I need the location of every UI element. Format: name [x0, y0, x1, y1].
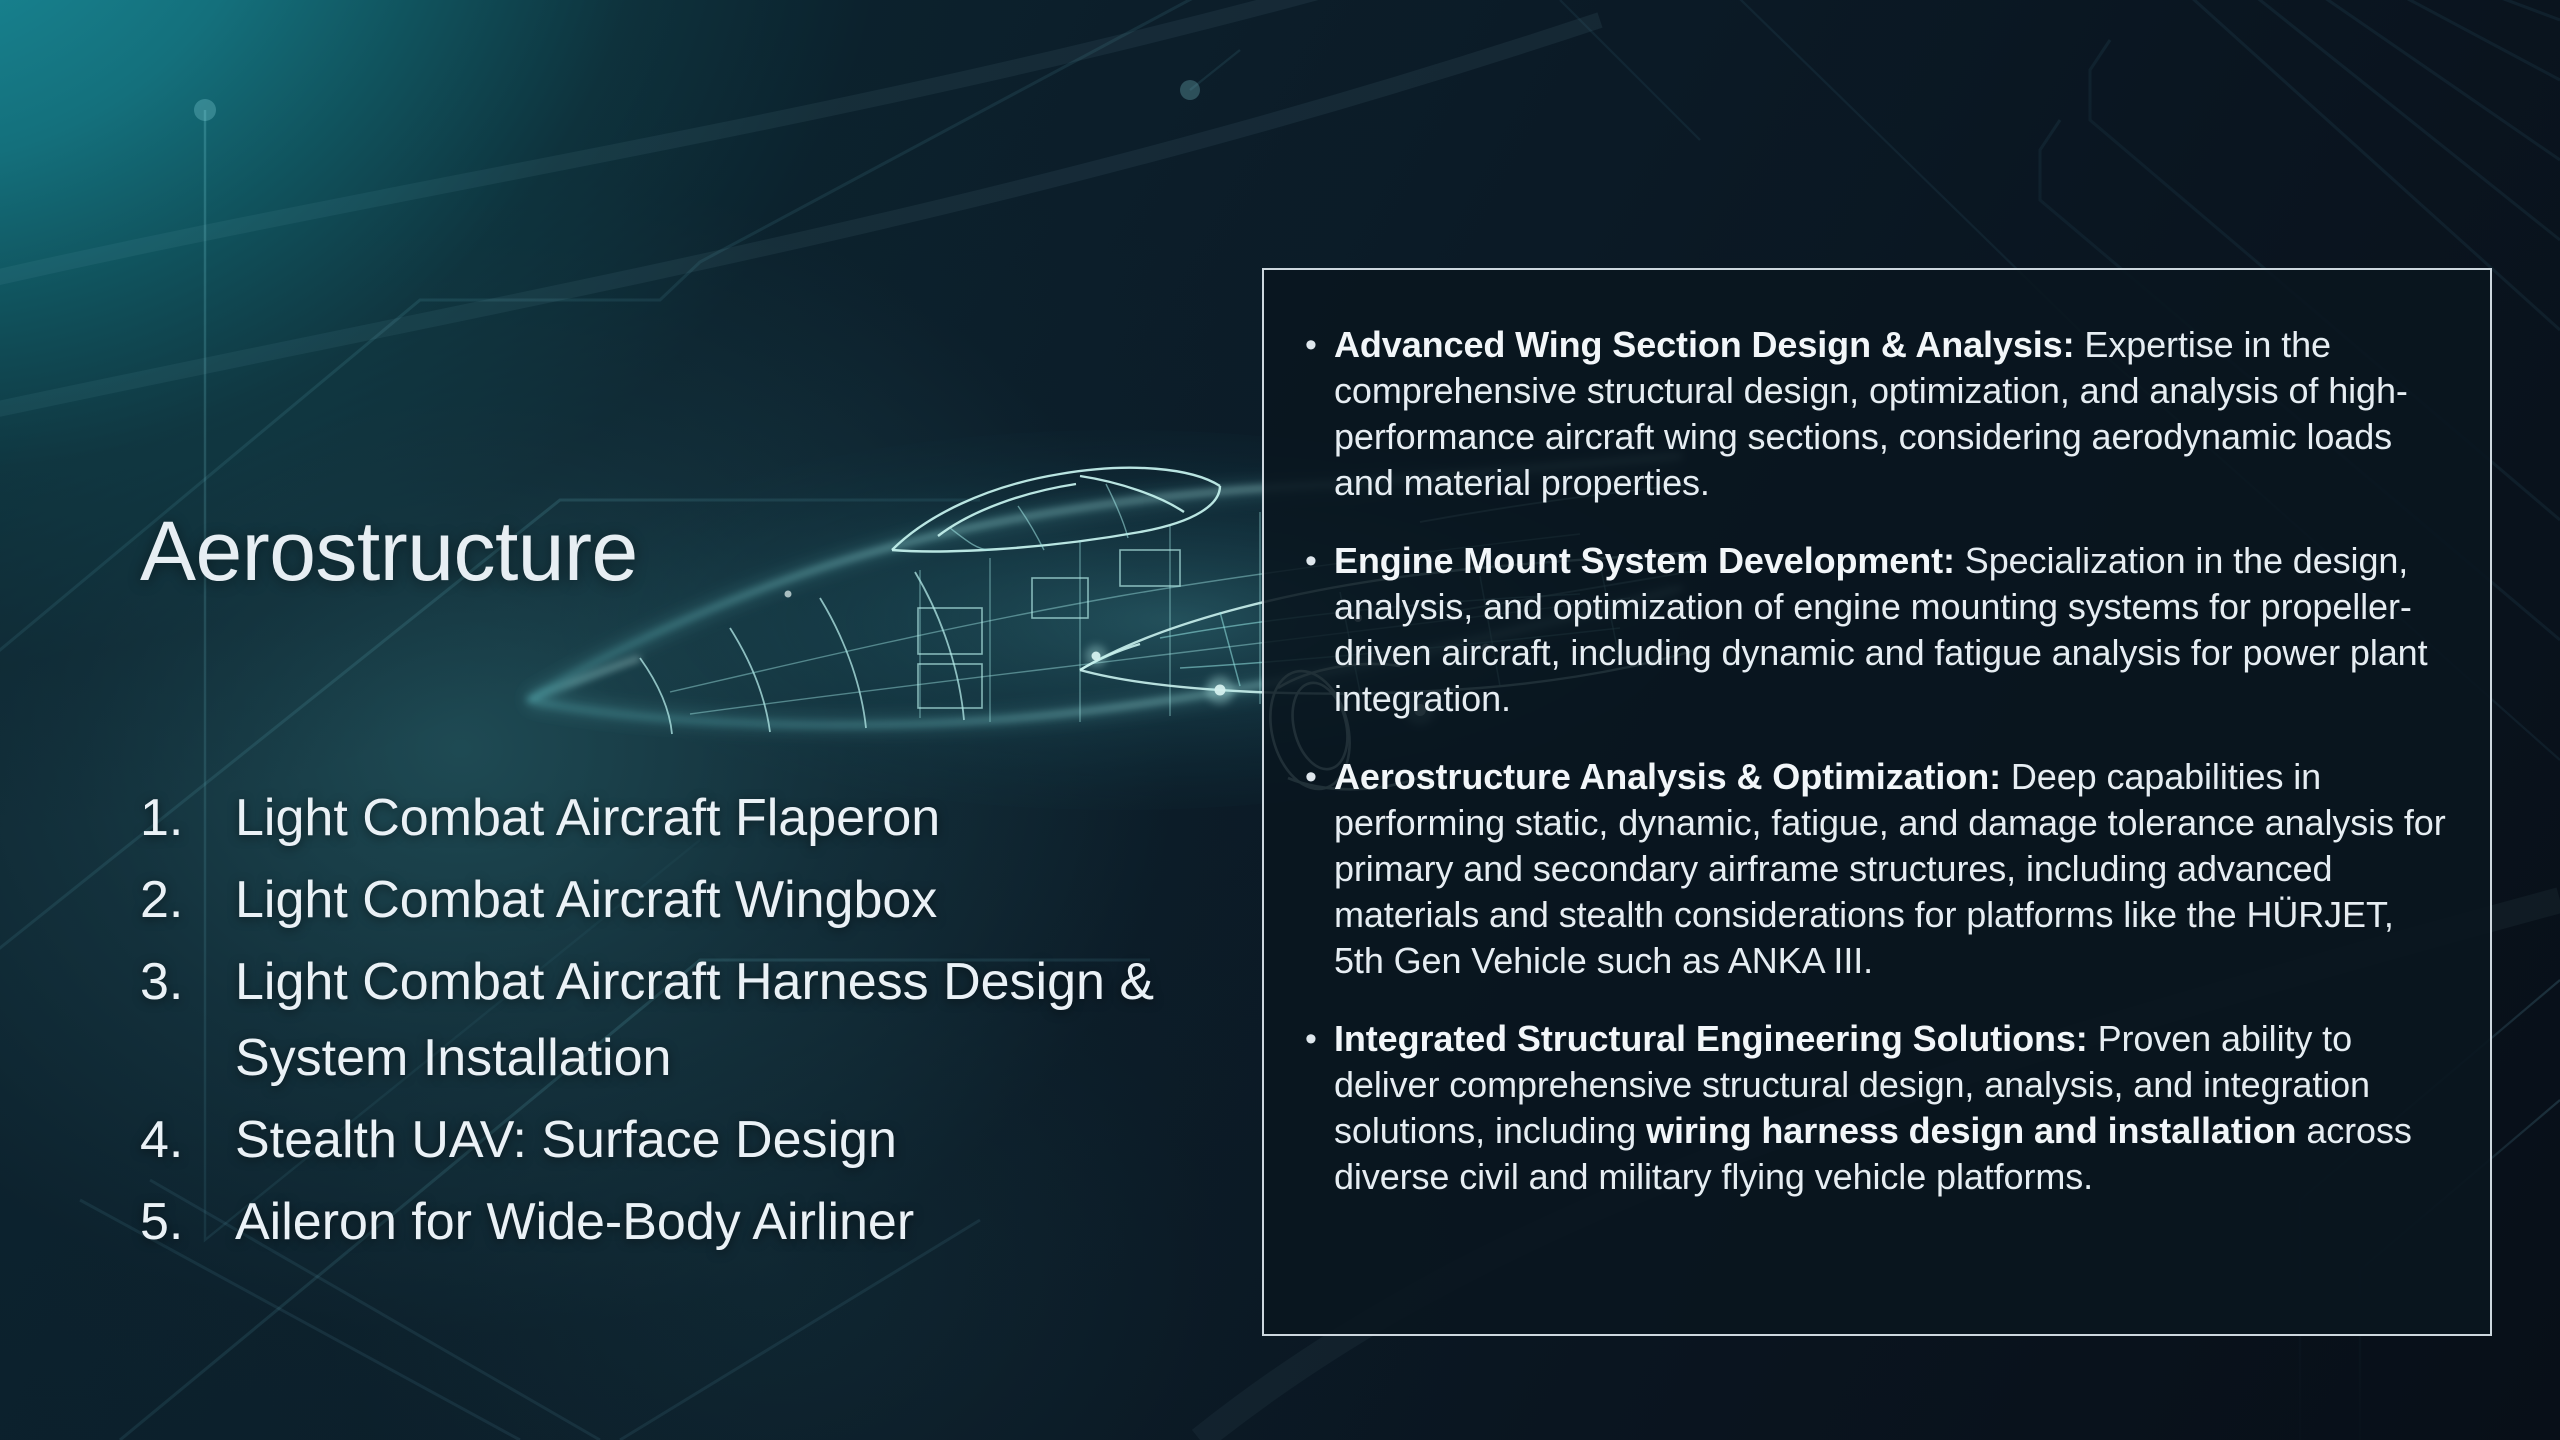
list-item-marker: 5.: [140, 1184, 235, 1260]
bullet-text: Advanced Wing Section Design & Analysis:…: [1334, 322, 2446, 506]
bullet-text: Integrated Structural Engineering Soluti…: [1334, 1016, 2446, 1200]
presentation-slide: Aerostructure 1. Light Combat Aircraft F…: [0, 0, 2560, 1440]
list-item: • Advanced Wing Section Design & Analysi…: [1288, 322, 2446, 506]
bullet-text: Aerostructure Analysis & Optimization: D…: [1334, 754, 2446, 984]
bullet-icon: •: [1288, 538, 1334, 584]
bullet-icon: •: [1288, 754, 1334, 800]
list-item: 2. Light Combat Aircraft Wingbox: [140, 862, 1160, 938]
bullet-heading: Aerostructure Analysis & Optimization:: [1334, 756, 2001, 797]
list-item-marker: 3.: [140, 944, 235, 1020]
list-item-label: Light Combat Aircraft Wingbox: [235, 862, 1160, 938]
list-item-label: Light Combat Aircraft Flaperon: [235, 780, 1160, 856]
list-item-marker: 4.: [140, 1102, 235, 1178]
list-item: 4. Stealth UAV: Surface Design: [140, 1102, 1160, 1178]
bullet-text: Engine Mount System Development: Special…: [1334, 538, 2446, 722]
list-item-label: Stealth UAV: Surface Design: [235, 1102, 1160, 1178]
list-item: • Engine Mount System Development: Speci…: [1288, 538, 2446, 722]
list-item: • Aerostructure Analysis & Optimization:…: [1288, 754, 2446, 984]
capabilities-panel: • Advanced Wing Section Design & Analysi…: [1262, 268, 2492, 1336]
bullet-icon: •: [1288, 1016, 1334, 1062]
bullet-heading: Engine Mount System Development:: [1334, 540, 1955, 581]
list-item: • Integrated Structural Engineering Solu…: [1288, 1016, 2446, 1200]
list-item-marker: 1.: [140, 780, 235, 856]
numbered-list: 1. Light Combat Aircraft Flaperon 2. Lig…: [140, 780, 1160, 1266]
capabilities-panel-content: • Advanced Wing Section Design & Analysi…: [1264, 270, 2490, 1334]
list-item: 5. Aileron for Wide-Body Airliner: [140, 1184, 1160, 1260]
list-item-label: Aileron for Wide-Body Airliner: [235, 1184, 1160, 1260]
bullet-heading: Integrated Structural Engineering Soluti…: [1334, 1018, 2088, 1059]
list-item-marker: 2.: [140, 862, 235, 938]
list-item-label: Light Combat Aircraft Harness Design & S…: [235, 944, 1160, 1096]
list-item: 3. Light Combat Aircraft Harness Design …: [140, 944, 1160, 1096]
bullet-icon: •: [1288, 322, 1334, 368]
list-item: 1. Light Combat Aircraft Flaperon: [140, 780, 1160, 856]
bullet-heading: Advanced Wing Section Design & Analysis:: [1334, 324, 2075, 365]
bullet-body-emphasis: wiring harness design and installation: [1646, 1110, 2296, 1151]
page-title: Aerostructure: [140, 503, 638, 600]
